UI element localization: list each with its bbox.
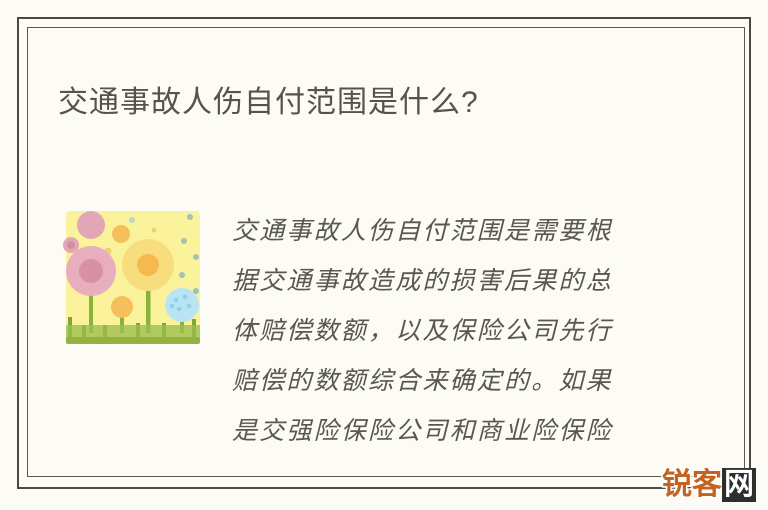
article-body: 交通事故人伤自付范围是需要根 据交通事故造成的损害后果的总 体赔偿数额，以及保险…	[232, 206, 652, 456]
body-line: 交通事故人伤自付范围是需要根	[232, 206, 652, 256]
site-watermark: 锐客网	[662, 468, 756, 502]
body-line: 据交通事故造成的损害后果的总	[232, 256, 652, 306]
watermark-text-boxed: 网	[722, 468, 756, 502]
body-line: 赔偿的数额综合来确定的。如果	[232, 356, 652, 406]
page-root: 交通事故人伤自付范围是什么?	[0, 0, 768, 510]
flower-garden-illustration	[58, 205, 208, 355]
body-line: 是交强险保险公司和商业险保险	[232, 406, 652, 456]
body-line: 体赔偿数额，以及保险公司先行	[232, 306, 652, 356]
page-title: 交通事故人伤自付范围是什么?	[58, 82, 678, 124]
watermark-text: 锐客	[662, 467, 722, 502]
